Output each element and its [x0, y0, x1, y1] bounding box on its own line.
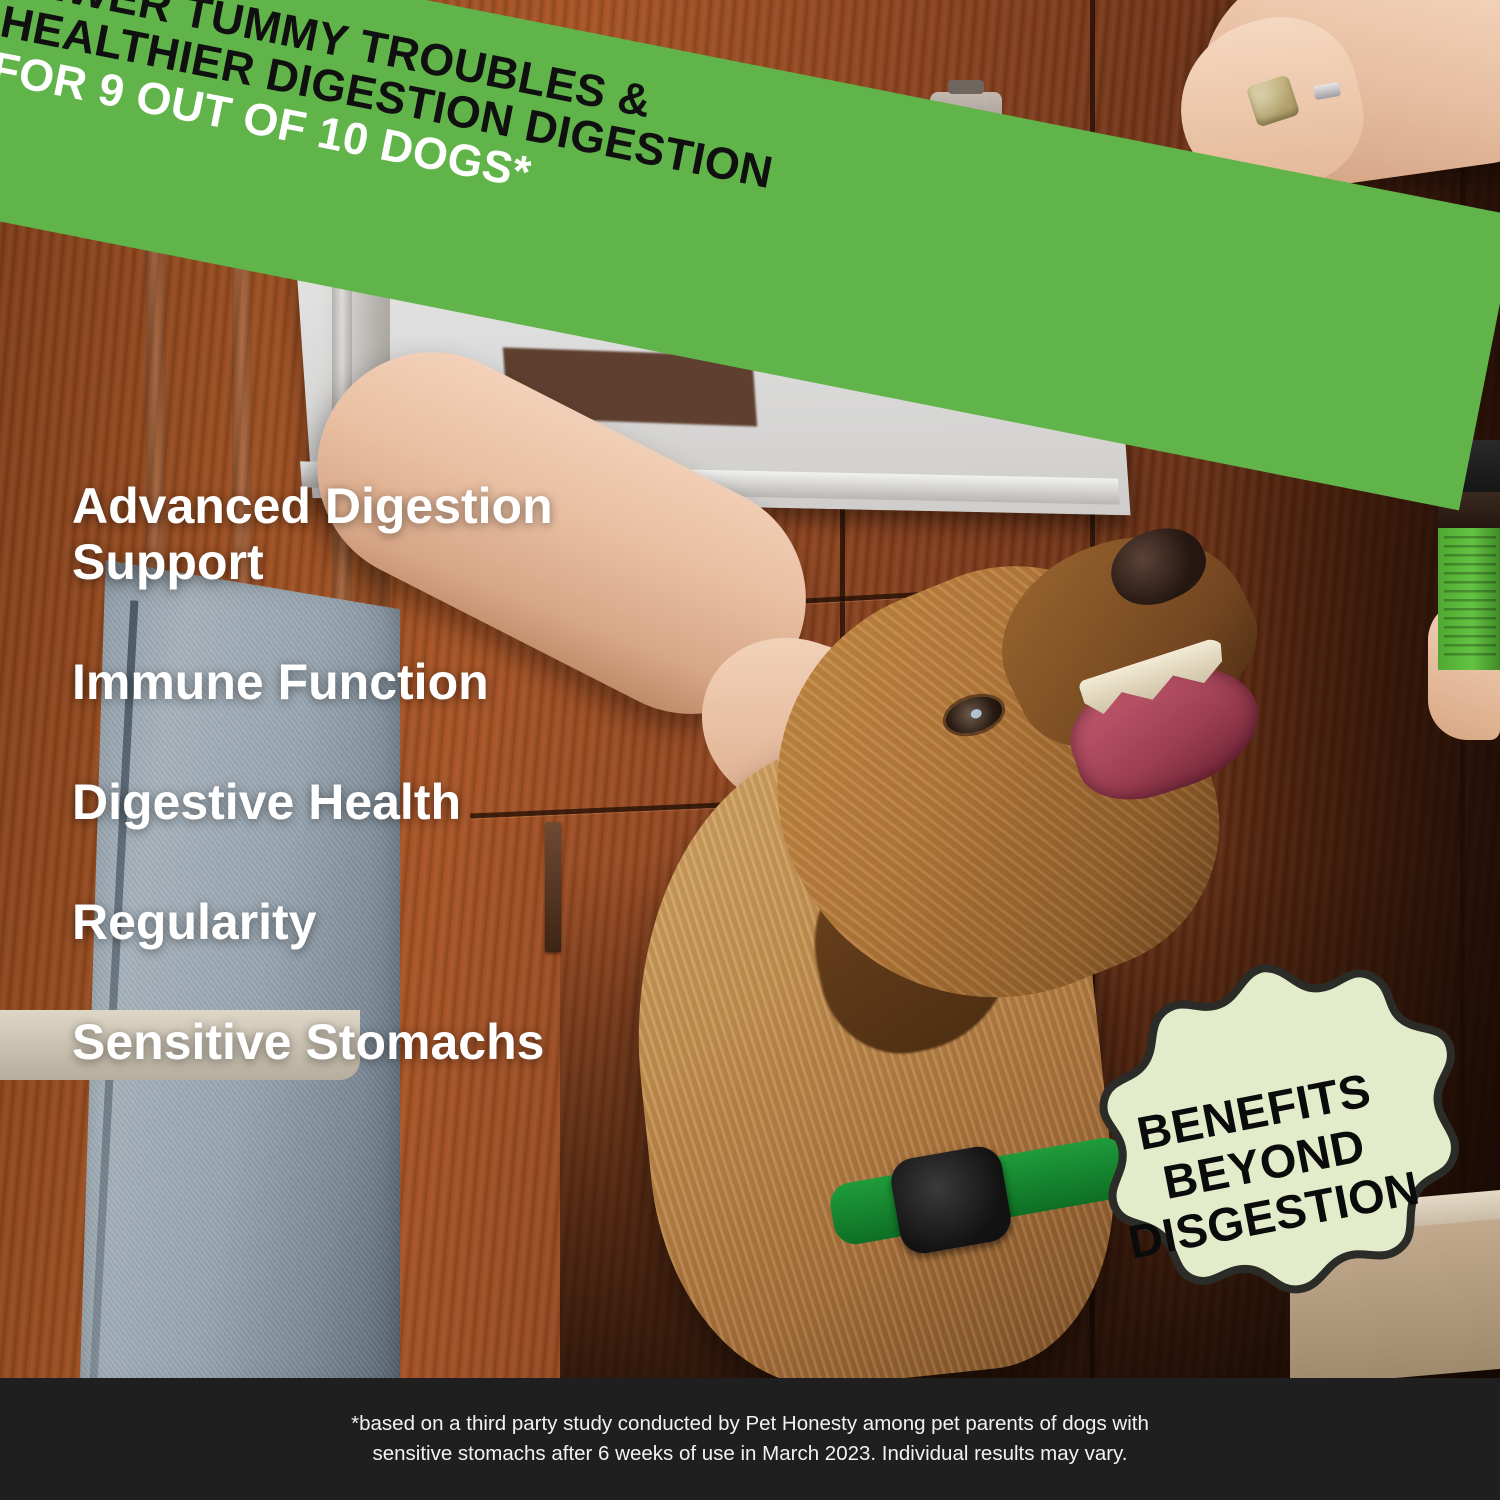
footer-line-2: sensitive stomachs after 6 weeks of use …	[351, 1439, 1149, 1469]
footer-disclaimer-text: *based on a third party study conducted …	[351, 1409, 1149, 1468]
benefits-list: Advanced Digestion Support Immune Functi…	[72, 478, 712, 1070]
benefit-item-advanced-digestion-support: Advanced Digestion Support	[72, 478, 712, 590]
benefits-badge: BENEFITS BEYOND DISGESTION	[1062, 962, 1466, 1366]
benefit-item-immune-function: Immune Function	[72, 654, 712, 710]
badge-text-block: BENEFITS BEYOND DISGESTION	[1027, 927, 1500, 1401]
product-lifestyle-graphic: FEWER TUMMY TROUBLES & HEALTHIER DIGESTI…	[0, 0, 1500, 1500]
bottle-label	[1438, 528, 1500, 670]
benefit-item-sensitive-stomachs: Sensitive Stomachs	[72, 1014, 712, 1070]
dog-gps-tracker	[888, 1143, 1015, 1257]
footer-line-1: *based on a third party study conducted …	[351, 1409, 1149, 1439]
benefit-item-digestive-health: Digestive Health	[72, 774, 712, 830]
footer-disclaimer-bar: *based on a third party study conducted …	[0, 1378, 1500, 1500]
bottle-label-text-lines	[1444, 536, 1496, 656]
benefit-item-regularity: Regularity	[72, 894, 712, 950]
